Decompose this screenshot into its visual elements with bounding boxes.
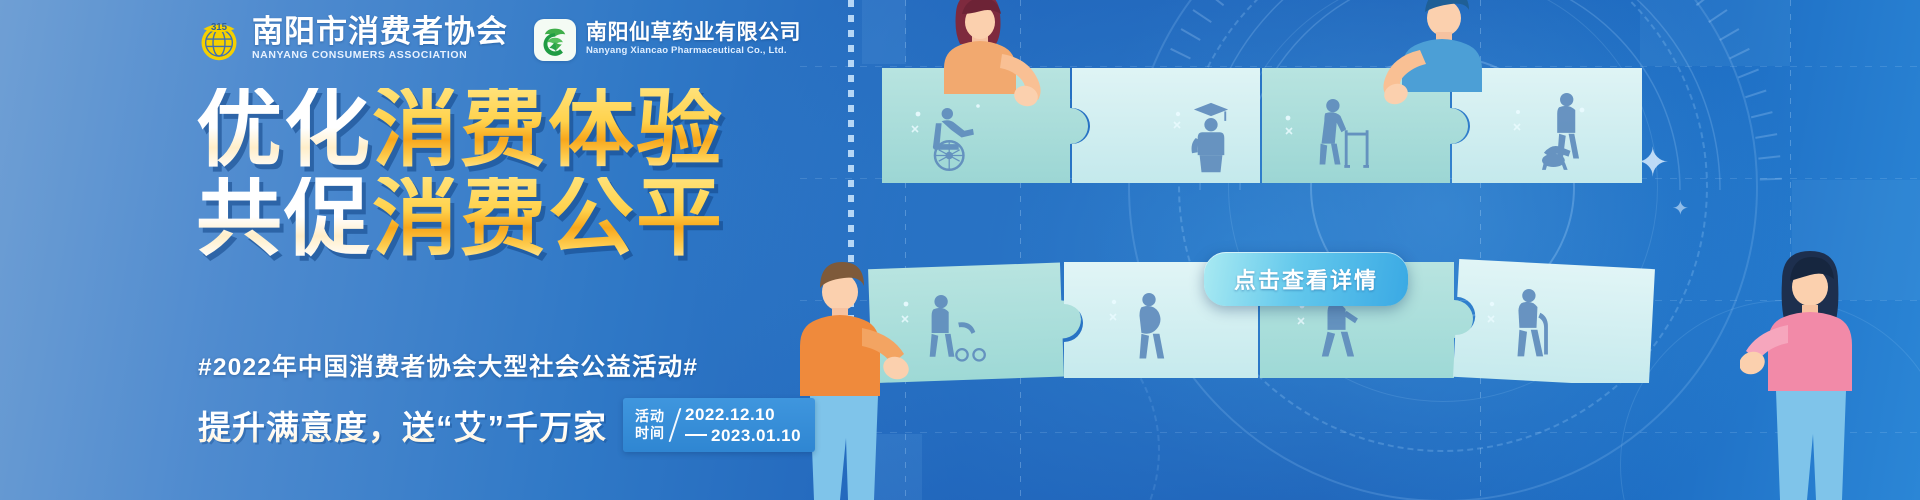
slogan-row: 提升满意度，送“艾”千万家 活动 时间 2022.12.10 2023.01.1…	[198, 398, 815, 452]
date-badge-divider	[668, 408, 681, 442]
promo-banner: ✦ ✦ ✦ ✦ ✦	[0, 0, 1920, 500]
315-emblem-icon: 315	[196, 17, 242, 63]
leaf-logo-icon	[534, 19, 576, 61]
puzzle-illustration	[800, 0, 1920, 500]
association-name-cn: 南阳市消费者协会	[252, 16, 508, 48]
xiancao-name-en: Nanyang Xiancao Pharmaceutical Co., Ltd.	[586, 44, 801, 58]
headline-line-2: 共促 消费公平	[196, 177, 724, 260]
headline-2-gold: 消费公平	[372, 177, 724, 260]
headline-1-white: 优化	[196, 88, 372, 171]
date-end: 2023.01.10	[711, 426, 801, 446]
date-badge-label: 活动 时间	[635, 408, 665, 442]
campaign-hashtag: #2022年中国消费者协会大型社会公益活动#	[198, 348, 698, 383]
character-man-blue-hair	[1340, 0, 1540, 143]
view-details-button[interactable]: 点击查看详情	[1204, 252, 1408, 306]
date-label-line1: 活动	[635, 408, 665, 425]
date-end-row: 2023.01.10	[685, 426, 801, 446]
date-start: 2022.12.10	[685, 405, 801, 425]
headline-1-gold: 消费体验	[372, 88, 724, 171]
logo-xiancao-pharmaceutical: 南阳仙草药业有限公司 Nanyang Xiancao Pharmaceutica…	[534, 19, 801, 61]
association-name-en: NANYANG CONSUMERS ASSOCIATION	[252, 48, 508, 64]
logo-row: 315 南阳市消费者协会 NANYANG CONSUMERS ASSOCIATI…	[196, 16, 801, 64]
headline-2-white: 共促	[196, 177, 372, 260]
date-label-line2: 时间	[635, 425, 665, 442]
cta-label: 点击查看详情	[1234, 268, 1378, 293]
date-values: 2022.12.10 2023.01.10	[685, 405, 801, 445]
character-woman-dark-red-hair	[918, 0, 1098, 142]
headline-line-1: 优化 消费体验	[196, 88, 724, 171]
campaign-slogan: 提升满意度，送“艾”千万家	[198, 401, 607, 449]
character-girl-pink-shirt	[1740, 245, 1920, 500]
svg-text:315: 315	[211, 22, 228, 33]
event-date-badge: 活动 时间 2022.12.10 2023.01.10	[623, 398, 815, 452]
xiancao-name-cn: 南阳仙草药业有限公司	[586, 21, 801, 44]
logo-consumers-association: 315 南阳市消费者协会 NANYANG CONSUMERS ASSOCIATI…	[196, 16, 508, 64]
character-boy-orange-shirt	[792, 250, 972, 500]
headline-block: 优化 消费体验 共促 消费公平	[196, 88, 724, 259]
date-range-dash	[685, 434, 707, 436]
